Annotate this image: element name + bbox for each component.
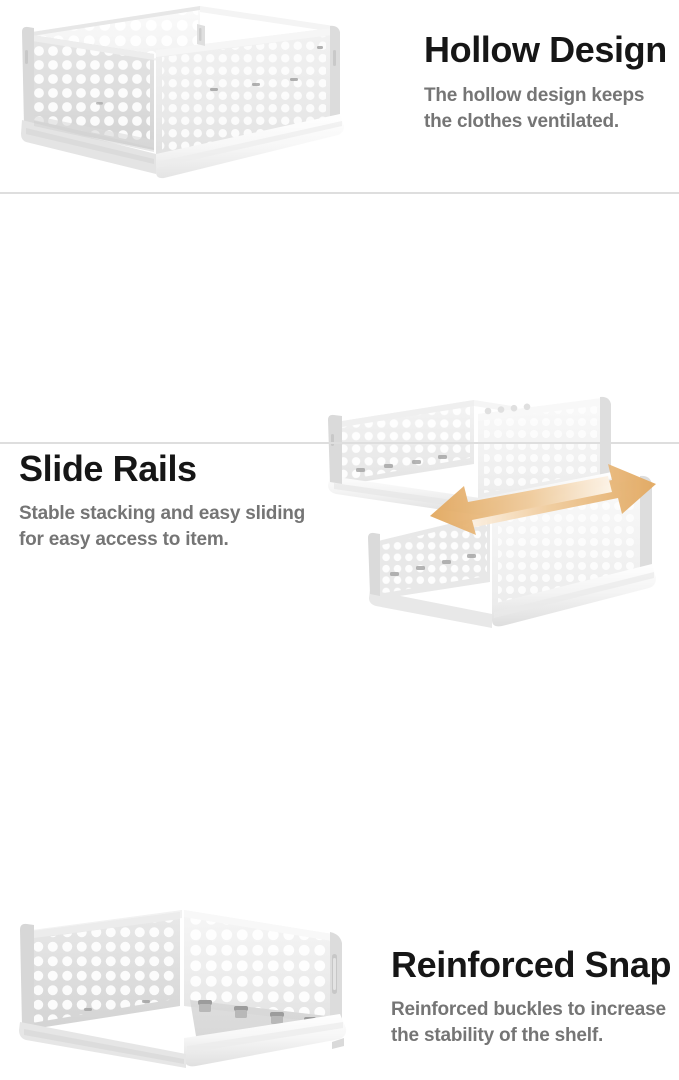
section-reinforced-snap: Reinforced Snap Reinforced buckles to in… (0, 444, 679, 638)
body-reinforced-snap: Reinforced buckles to increase the stabi… (391, 997, 673, 1048)
section-slide-rails: Slide Rails Stable stacking and easy sli… (0, 194, 679, 443)
product-image-reinforced-snap (2, 896, 378, 1080)
basket-left-panel (26, 912, 180, 1030)
headline-hollow-design: Hollow Design (424, 30, 676, 70)
text-block-hollow-design: Hollow Design The hollow design keeps th… (424, 30, 676, 134)
product-image-hollow-design (4, 2, 384, 188)
section-hollow-design: Hollow Design The hollow design keeps th… (0, 0, 679, 193)
text-block-reinforced-snap: Reinforced Snap Reinforced buckles to in… (391, 945, 673, 1048)
headline-reinforced-snap: Reinforced Snap (391, 945, 673, 985)
body-hollow-design: The hollow design keeps the clothes vent… (424, 83, 676, 134)
infographic-page: Hollow Design The hollow design keeps th… (0, 0, 679, 638)
